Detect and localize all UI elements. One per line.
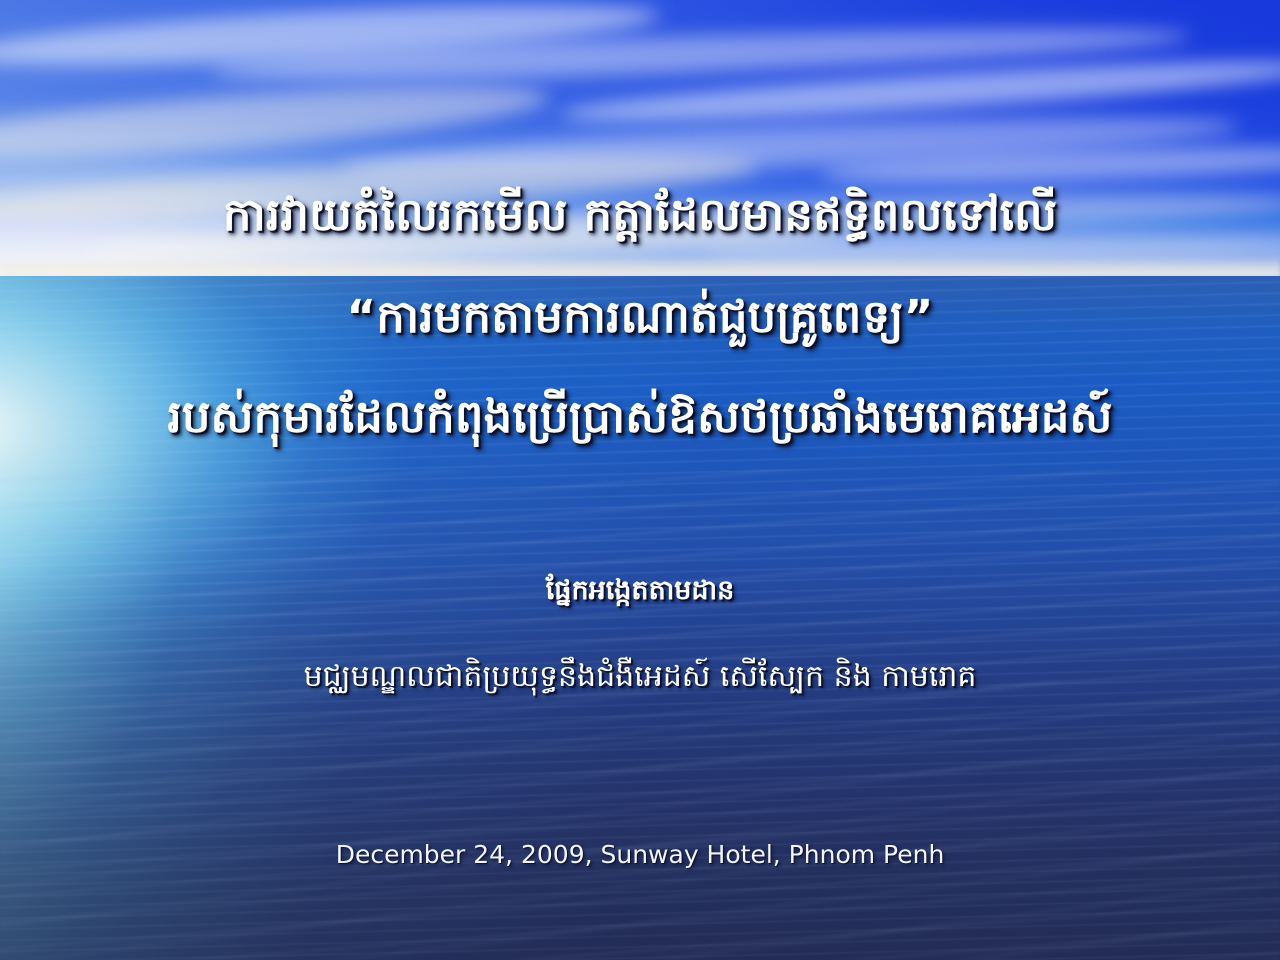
presenter-department: ផ្នែកអង្កេតតាមដាន	[0, 572, 1280, 610]
slide-content: ការវាយតំលៃរកមើល កត្តាដែលមានឥទ្ធិពលទៅលើ “…	[0, 0, 1280, 960]
title-line-3: របស់កុមារដែលកំពុងប្រើប្រាស់ឱសថប្រឆាំងមេរ…	[0, 388, 1280, 446]
presenter-organization: មជ្ឈមណ្ឌលជាតិប្រយុទ្ធនឹងជំងឺអេដស៍ សើស្បែ…	[0, 656, 1280, 698]
venue-date-footer: December 24, 2009, Sunway Hotel, Phnom P…	[0, 838, 1280, 872]
title-line-1: ការវាយតំលៃរកមើល កត្តាដែលមានឥទ្ធិពលទៅលើ	[0, 186, 1280, 244]
presentation-slide: ការវាយតំលៃរកមើល កត្តាដែលមានឥទ្ធិពលទៅលើ “…	[0, 0, 1280, 960]
title-line-2: “ការមកតាមការណាត់ជួបគ្រូពេទ្យ”	[0, 288, 1280, 346]
